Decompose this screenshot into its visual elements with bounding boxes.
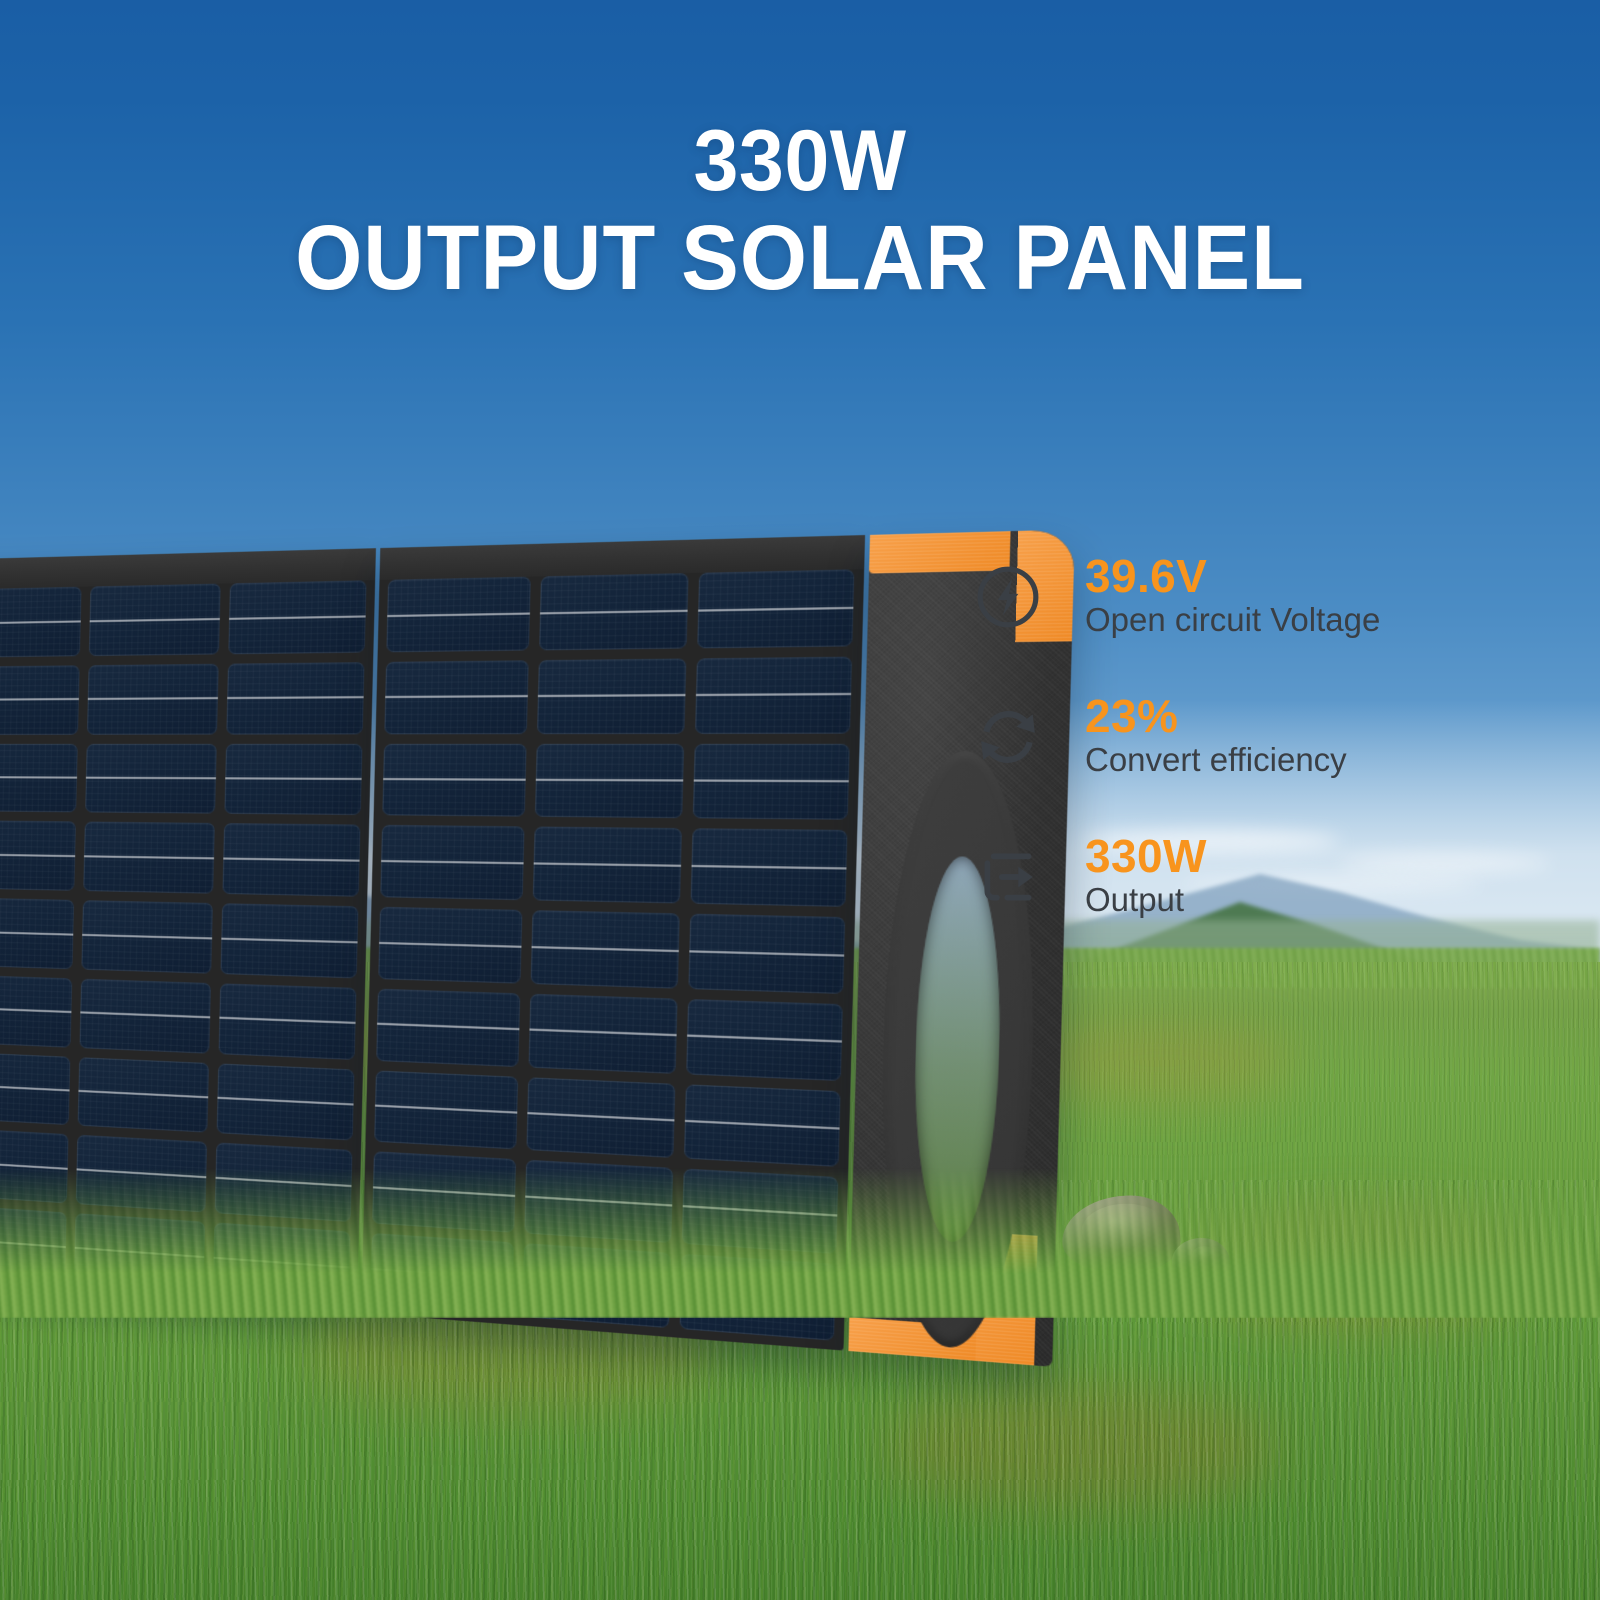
- spec-label: Open circuit Voltage: [1085, 601, 1380, 639]
- spec-value: 23%: [1085, 692, 1347, 742]
- spec-list: 39.6V Open circuit Voltage 23% Convert e…: [975, 556, 1535, 976]
- headline-line-1: 330W: [48, 118, 1552, 206]
- spec-value: 39.6V: [1085, 552, 1380, 602]
- headline-line-2: OUTPUT SOLAR PANEL: [48, 210, 1552, 307]
- grass-occluding-panel-base: [0, 1168, 1600, 1318]
- headline: 330W OUTPUT SOLAR PANEL: [0, 118, 1600, 306]
- product-hero-image: 330W OUTPUT SOLAR PANEL 39.6V Open circu: [0, 0, 1600, 1600]
- output-export-arrow-icon: [975, 844, 1041, 910]
- spec-value: 330W: [1085, 832, 1207, 882]
- spec-item-voltage: 39.6V Open circuit Voltage: [975, 556, 1535, 696]
- lightning-bolt-circle-icon: [975, 564, 1041, 630]
- spec-label: Output: [1085, 881, 1207, 919]
- convert-cycle-arrows-icon: [975, 704, 1041, 770]
- spec-item-efficiency: 23% Convert efficiency: [975, 696, 1535, 836]
- spec-label: Convert efficiency: [1085, 741, 1347, 779]
- spec-item-output: 330W Output: [975, 836, 1535, 976]
